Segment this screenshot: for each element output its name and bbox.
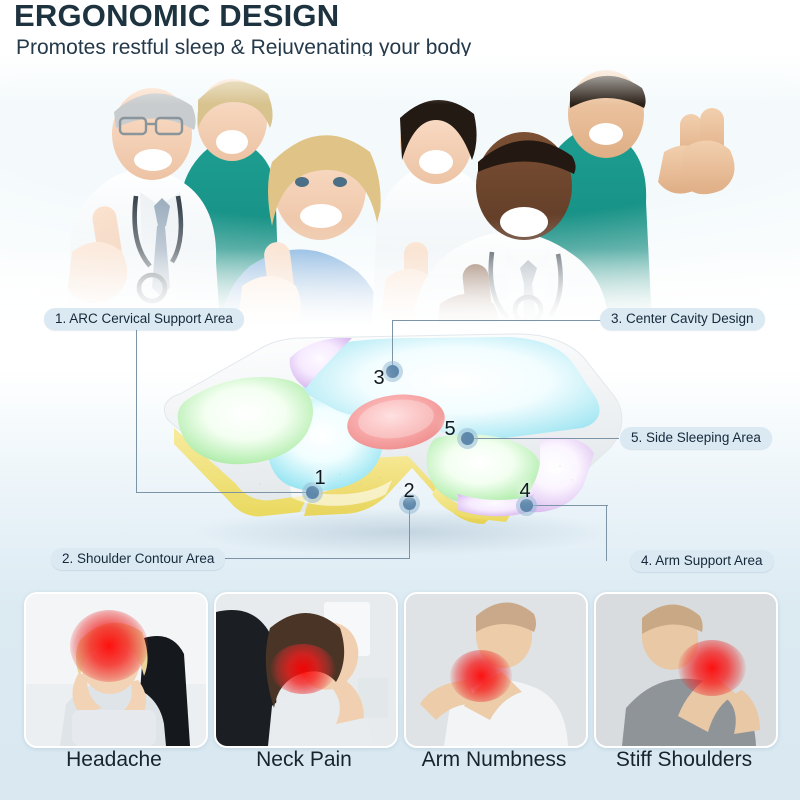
symptom-card-arm-numbness[interactable] <box>404 592 588 748</box>
symptom-card-row: Headache Neck Pain <box>0 592 800 800</box>
callout-pill-1[interactable]: 1. ARC Cervical Support Area <box>44 308 244 330</box>
leader-line-1-horizontal <box>136 492 316 493</box>
hero-photo-doctors <box>0 56 800 324</box>
leader-line-4-horizontal <box>526 505 608 506</box>
leader-line-2-vertical <box>409 503 410 559</box>
symptom-caption-neck-pain: Neck Pain <box>214 748 394 772</box>
symptom-caption-stiff-shoulders: Stiff Shoulders <box>594 748 774 772</box>
symptom-card-stiff-shoulders[interactable] <box>594 592 778 748</box>
symptom-card-headache[interactable] <box>24 592 208 748</box>
pain-glow-shoulder <box>678 640 746 696</box>
symptom-caption-headache: Headache <box>24 748 204 772</box>
marker-number-3: 3 <box>366 365 392 391</box>
callout-pill-4[interactable]: 4. Arm Support Area <box>630 550 774 572</box>
marker-number-4: 4 <box>512 478 538 504</box>
marker-number-2: 2 <box>396 478 422 504</box>
leader-line-4-vertical <box>606 505 607 561</box>
callout-pill-2[interactable]: 2. Shoulder Contour Area <box>51 548 225 570</box>
pain-glow-head <box>70 610 148 682</box>
leader-line-5-horizontal <box>467 438 619 439</box>
marker-number-5: 5 <box>437 416 463 442</box>
symptom-card-neck-pain[interactable] <box>214 592 398 748</box>
leader-line-3-horizontal <box>392 320 608 321</box>
callout-pill-5[interactable]: 5. Side Sleeping Area <box>620 427 772 449</box>
symptom-caption-arm-numbness: Arm Numbness <box>404 748 584 772</box>
infographic-page: ERGONOMIC DESIGN Promotes restful sleep … <box>0 0 800 800</box>
callout-pill-3[interactable]: 3. Center Cavity Design <box>600 308 765 330</box>
hero-white-vignette <box>0 56 800 324</box>
leader-line-1-vertical <box>136 330 137 493</box>
page-title: ERGONOMIC DESIGN <box>14 0 339 34</box>
marker-number-1: 1 <box>307 465 333 491</box>
pain-glow-arm <box>450 650 512 702</box>
pain-glow-neck <box>270 644 336 694</box>
